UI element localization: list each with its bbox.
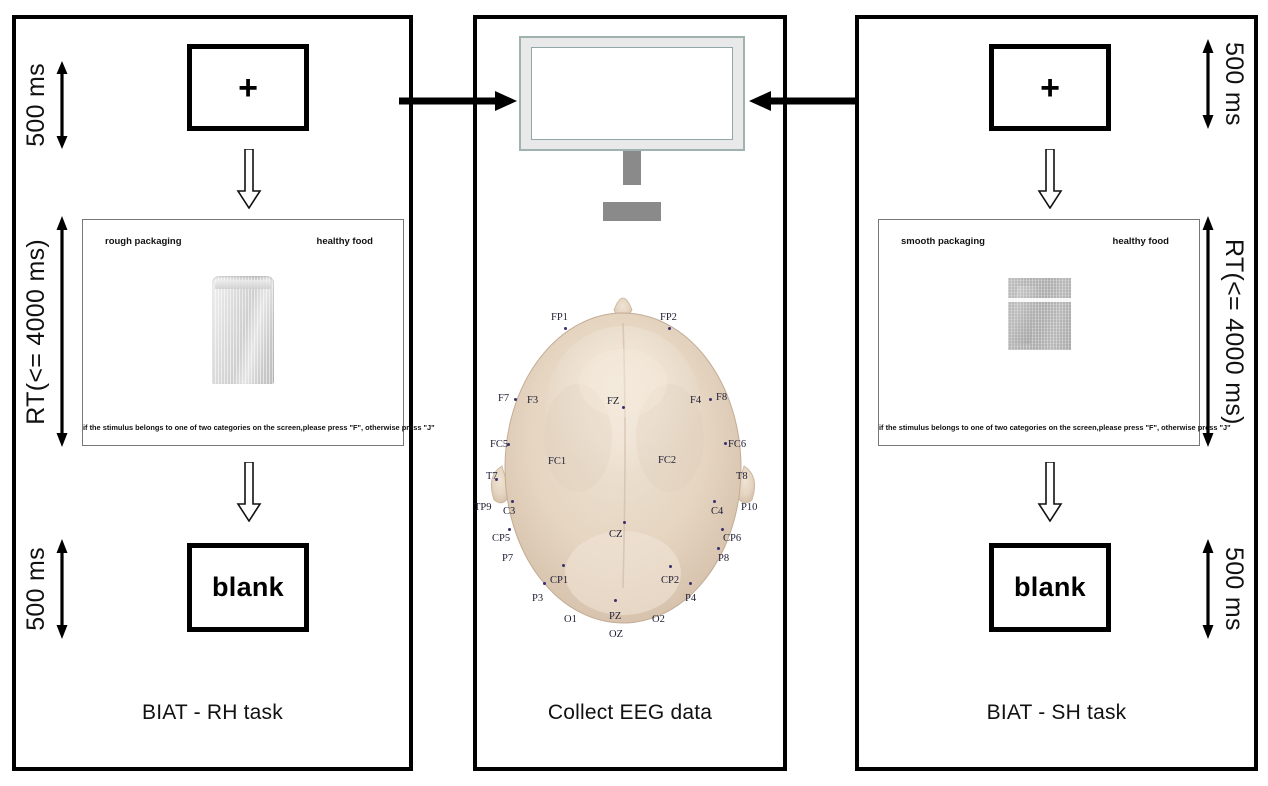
figure-canvas: 500 ms + RT(<= 4000 ms) rough <box>0 0 1268 786</box>
stand-up-pouch-image <box>212 276 274 384</box>
blank-screen-right: blank <box>989 543 1111 632</box>
electrode-label-cp2: CP2 <box>661 575 679 586</box>
timing-label: RT(<= 4000 ms) <box>22 239 51 425</box>
monitor-screen <box>531 47 733 140</box>
blank-screen-left: blank <box>187 543 309 632</box>
timing-bracket-fixation-left: 500 ms <box>22 61 73 149</box>
blank-label: blank <box>1014 572 1086 603</box>
flow-arrow-right-to-monitor-icon <box>747 90 867 112</box>
timing-bracket-blank-right: 500 ms <box>1197 539 1248 639</box>
fixation-screen-right: + <box>989 44 1111 131</box>
panel-biat-rh-task: 500 ms + RT(<= 4000 ms) rough <box>12 15 413 771</box>
electrode-label-fz: FZ <box>607 396 619 407</box>
double-arrow-icon <box>51 539 73 639</box>
flow-arrow-down-icon <box>236 462 262 522</box>
electrode-label-p8: P8 <box>718 553 729 564</box>
electrode-label-pz: PZ <box>609 611 621 622</box>
electrode-label-o2: O2 <box>652 614 665 625</box>
timing-bracket-fixation-right: 500 ms <box>1197 39 1248 129</box>
double-arrow-icon <box>1197 539 1219 639</box>
stimulus-screen-right: smooth packaging healthy food if the sti… <box>878 219 1200 446</box>
flow-arrow-down-icon <box>236 149 262 209</box>
flow-arrow-down-icon <box>1037 149 1063 209</box>
electrode-label-f7: F7 <box>498 393 509 404</box>
category-label-left: smooth packaging <box>901 236 985 247</box>
eeg-electrode-map: FP1FP2F7F3FZF4F8FC5FC1FC2FC6T7T8TP9C3C4P… <box>478 288 783 640</box>
electrode-label-cp5: CP5 <box>492 533 510 544</box>
blank-label: blank <box>212 572 284 603</box>
timing-label: 500 ms <box>22 63 51 147</box>
stimulus-monitor <box>519 36 745 151</box>
fixation-cross: + <box>1040 71 1060 105</box>
double-arrow-icon <box>51 61 73 149</box>
timing-bracket-rt-left: RT(<= 4000 ms) <box>22 216 73 447</box>
electrode-label-cz: CZ <box>609 529 622 540</box>
timing-label: 500 ms <box>1219 547 1248 631</box>
electrode-label-p10: P10 <box>741 502 757 513</box>
electrode-label-fc1: FC1 <box>548 456 566 467</box>
electrode-label-fp2: FP2 <box>660 312 677 323</box>
electrode-label-c3: C3 <box>503 506 515 517</box>
timing-label: 500 ms <box>22 547 51 631</box>
electrode-label-p4: P4 <box>685 593 696 604</box>
electrode-label-fc6: FC6 <box>728 439 746 450</box>
fixation-screen-left: + <box>187 44 309 131</box>
electrode-label-o1: O1 <box>564 614 577 625</box>
timing-label: RT(<= 4000 ms) <box>1219 239 1248 425</box>
electrode-label-p7: P7 <box>502 553 513 564</box>
panel-caption: BIAT - RH task <box>16 701 409 725</box>
electrode-label-fc2: FC2 <box>658 455 676 466</box>
electrode-label-f8: F8 <box>716 392 727 403</box>
electrode-label-f4: F4 <box>690 395 701 406</box>
monitor-stand-neck <box>623 151 641 185</box>
timing-bracket-blank-left: 500 ms <box>22 539 73 639</box>
flow-arrow-left-to-monitor-icon <box>399 90 519 112</box>
double-arrow-icon <box>1197 216 1219 447</box>
timing-label: 500 ms <box>1219 42 1248 126</box>
category-label-right: healthy food <box>317 236 373 247</box>
head-top-view-illustration <box>478 288 783 640</box>
electrode-label-f3: F3 <box>527 395 538 406</box>
task-instruction-text: if the stimulus belongs to one of two ca… <box>879 423 1199 432</box>
fixation-cross: + <box>238 71 258 105</box>
double-arrow-icon <box>1197 39 1219 129</box>
task-instruction-text: if the stimulus belongs to one of two ca… <box>83 423 403 432</box>
double-arrow-icon <box>51 216 73 447</box>
monitor-stand-base <box>603 202 661 221</box>
electrode-label-cp6: CP6 <box>723 533 741 544</box>
electrode-label-c4: C4 <box>711 506 723 517</box>
electrode-label-t8: T8 <box>736 471 748 482</box>
panel-caption: Collect EEG data <box>477 701 783 725</box>
electrode-label-cp1: CP1 <box>550 575 568 586</box>
electrode-label-fc5: FC5 <box>490 439 508 450</box>
category-label-left: rough packaging <box>105 236 182 247</box>
stimulus-screen-left: rough packaging healthy food if the stim… <box>82 219 404 446</box>
flat-pouch-image <box>1008 278 1071 350</box>
panel-caption: BIAT - SH task <box>859 701 1254 725</box>
timing-bracket-rt-right: RT(<= 4000 ms) <box>1197 216 1248 447</box>
panel-biat-sh-task: + 500 ms smooth packaging healthy food i… <box>855 15 1258 771</box>
flow-arrow-down-icon <box>1037 462 1063 522</box>
electrode-label-oz: OZ <box>609 629 623 640</box>
electrode-label-p3: P3 <box>532 593 543 604</box>
category-label-right: healthy food <box>1113 236 1169 247</box>
electrode-label-tp9: TP9 <box>474 502 492 513</box>
electrode-label-fp1: FP1 <box>551 312 568 323</box>
